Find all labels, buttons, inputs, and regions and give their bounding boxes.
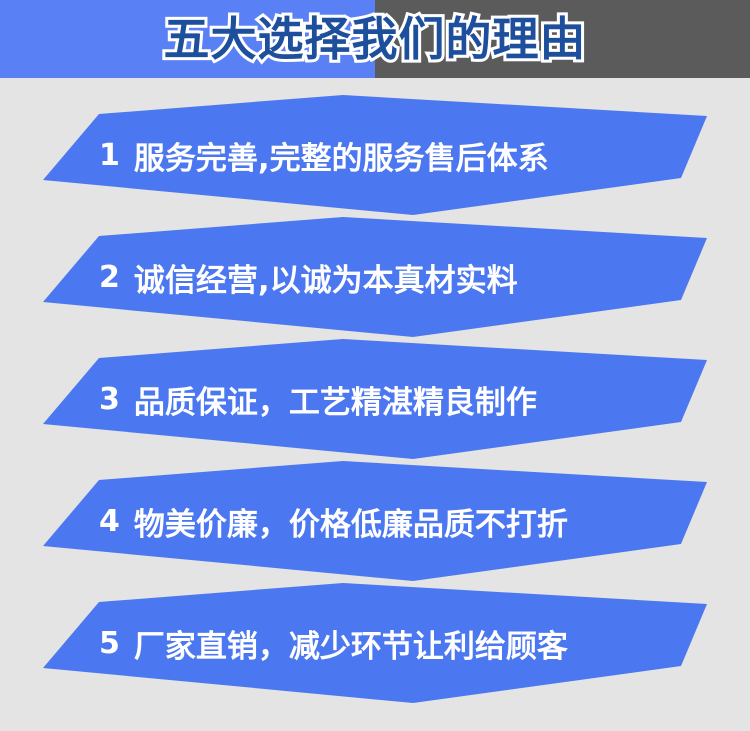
reasons-list: 1 服务完善,完整的服务售后体系 2 诚信经营,以诚为本真材实料 3 品质保证，… bbox=[0, 78, 750, 731]
banner-number: 4 bbox=[99, 504, 120, 539]
list-item: 4 物美价廉，价格低廉品质不打折 bbox=[43, 460, 707, 582]
banner-label: 物美价廉，价格低廉品质不打折 bbox=[134, 499, 568, 544]
banner-number: 5 bbox=[99, 626, 120, 661]
banner-text: 4 物美价廉，价格低廉品质不打折 bbox=[43, 460, 707, 582]
banner-text: 5 厂家直销，减少环节让利给顾客 bbox=[43, 582, 707, 704]
banner-text: 2 诚信经营,以诚为本真材实料 bbox=[43, 216, 707, 338]
banner-number: 1 bbox=[99, 138, 120, 173]
list-item: 2 诚信经营,以诚为本真材实料 bbox=[43, 216, 707, 338]
banner-number: 2 bbox=[99, 260, 120, 295]
list-item: 3 品质保证，工艺精湛精良制作 bbox=[43, 338, 707, 460]
banner-label: 诚信经营,以诚为本真材实料 bbox=[134, 255, 518, 300]
poster-header: 五大选择我们的理由 bbox=[0, 0, 750, 78]
list-item: 5 厂家直销，减少环节让利给顾客 bbox=[43, 582, 707, 704]
promo-poster: 五大选择我们的理由 1 服务完善,完整的服务售后体系 2 诚信经营,以诚为本真材… bbox=[0, 0, 750, 731]
banner-text: 3 品质保证，工艺精湛精良制作 bbox=[43, 338, 707, 460]
banner-label: 服务完善,完整的服务售后体系 bbox=[134, 133, 549, 178]
list-item: 1 服务完善,完整的服务售后体系 bbox=[43, 94, 707, 216]
banner-text: 1 服务完善,完整的服务售后体系 bbox=[43, 94, 707, 216]
banner-label: 厂家直销，减少环节让利给顾客 bbox=[134, 621, 568, 666]
banner-number: 3 bbox=[99, 382, 120, 417]
page-title: 五大选择我们的理由 bbox=[0, 0, 750, 78]
banner-label: 品质保证，工艺精湛精良制作 bbox=[134, 377, 537, 422]
